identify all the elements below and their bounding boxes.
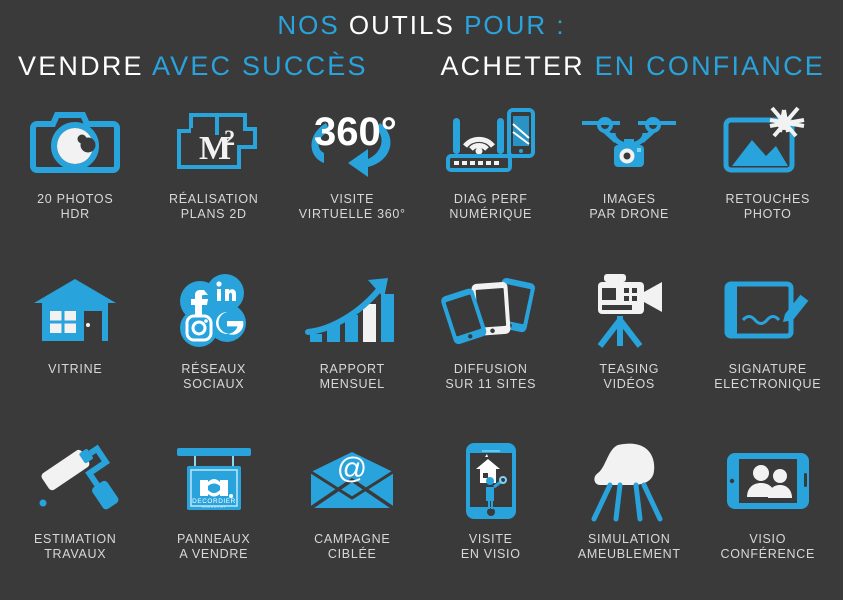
- caption-line-2: VIDÉOS: [599, 377, 659, 392]
- subtitle-left-vendre: VENDRE: [18, 51, 152, 81]
- 360-arrows-icon: 360°: [297, 98, 407, 184]
- grid-item-rapport-mensuel[interactable]: RAPPORT MENSUEL: [283, 268, 422, 438]
- caption-line-2: CIBLÉE: [314, 547, 390, 562]
- headline-part-pour: POUR :: [464, 10, 566, 40]
- grid-item-visio-conference[interactable]: VISIO CONFÉRENCE: [699, 438, 838, 600]
- caption-line-2: HDR: [37, 207, 113, 222]
- grid-item-panneaux-a-vendre[interactable]: DECORDIER immobilier PANNEAUX A VENDRE: [145, 438, 284, 600]
- subtitle-right: ACHETER EN CONFIANCE: [440, 53, 825, 80]
- caption: PANNEAUX A VENDRE: [177, 532, 250, 562]
- social-networks-icon: [159, 268, 269, 354]
- grid-item-reseaux-sociaux[interactable]: RÉSEAUX SOCIAUX: [145, 268, 284, 438]
- floorplan-m2-icon: M 2: [159, 98, 269, 184]
- grid-item-diag-perf[interactable]: DIAG PERF NUMÉRIQUE: [422, 98, 561, 268]
- caption-line-1: RETOUCHES: [725, 192, 810, 207]
- caption-line-1: PANNEAUX: [177, 532, 250, 547]
- subtitle-left: VENDRE AVEC SUCCÈS: [18, 53, 368, 80]
- caption-line-1: RAPPORT: [320, 362, 385, 377]
- page-title: NOS OUTILS POUR :: [0, 12, 843, 38]
- caption: RÉSEAUX SOCIAUX: [181, 362, 246, 392]
- caption-line-1: SIGNATURE: [714, 362, 821, 377]
- caption: SIMULATION AMEUBLEMENT: [578, 532, 681, 562]
- tablet-people-icon: [713, 438, 823, 524]
- poster-root: NOS OUTILS POUR : VENDRE AVEC SUCCÈS ACH…: [0, 0, 843, 600]
- caption: RAPPORT MENSUEL: [320, 362, 385, 392]
- caption-line-2: PLANS 2D: [169, 207, 258, 222]
- caption: RETOUCHES PHOTO: [725, 192, 810, 222]
- caption-line-1: TEASING: [599, 362, 659, 377]
- caption-line-1: VISITE: [299, 192, 406, 207]
- grid-item-images-drone[interactable]: IMAGES PAR DRONE: [560, 98, 699, 268]
- caption-line-1: DIFFUSION: [445, 362, 536, 377]
- caption: SIGNATURE ELECTRONIQUE: [714, 362, 821, 392]
- caption-line-2: ELECTRONIQUE: [714, 377, 821, 392]
- caption-line-2: AMEUBLEMENT: [578, 547, 681, 562]
- caption-line-2: SUR 11 SITES: [445, 377, 536, 392]
- grid-item-plans-2d[interactable]: M 2 RÉALISATION PLANS 2D: [145, 98, 284, 268]
- growth-chart-icon: [297, 268, 407, 354]
- grid-item-diffusion-sites[interactable]: DIFFUSION SUR 11 SITES: [422, 268, 561, 438]
- grid-item-vitrine[interactable]: VITRINE: [6, 268, 145, 438]
- badge-360-text: 360°: [314, 110, 397, 154]
- caption-line-1: RÉALISATION: [169, 192, 258, 207]
- caption-line-1: IMAGES: [589, 192, 669, 207]
- grid-item-estimation-travaux[interactable]: ESTIMATION TRAVAUX: [6, 438, 145, 600]
- caption-line-2: A VENDRE: [177, 547, 250, 562]
- caption-line-2: PAR DRONE: [589, 207, 669, 222]
- caption-line-2: SOCIAUX: [181, 377, 246, 392]
- caption: VISITE EN VISIO: [461, 532, 521, 562]
- grid-item-simulation-ameublement[interactable]: SIMULATION AMEUBLEMENT: [560, 438, 699, 600]
- caption-line-2: CONFÉRENCE: [720, 547, 815, 562]
- caption: VISIO CONFÉRENCE: [720, 532, 815, 562]
- caption-line-1: VITRINE: [48, 362, 102, 377]
- m2-exponent: 2: [224, 125, 235, 150]
- caption: VISITE VIRTUELLE 360°: [299, 192, 406, 222]
- subtitle-left-avec-succes: AVEC SUCCÈS: [152, 51, 368, 81]
- router-wifi-phone-icon: [436, 98, 546, 184]
- grid-item-visite-en-visio[interactable]: VISITE EN VISIO: [422, 438, 561, 600]
- caption: CAMPAGNE CIBLÉE: [314, 532, 390, 562]
- caption-line-1: VISIO: [720, 532, 815, 547]
- paint-roller-icon: [20, 438, 130, 524]
- photo-retouch-icon: [713, 98, 823, 184]
- caption: IMAGES PAR DRONE: [589, 192, 669, 222]
- video-camera-icon: [574, 268, 684, 354]
- phone-visit-icon: [436, 438, 546, 524]
- caption: 20 PHOTOS HDR: [37, 192, 113, 222]
- caption-line-2: NUMÉRIQUE: [449, 207, 532, 222]
- for-sale-sign-icon: DECORDIER immobilier: [159, 438, 269, 524]
- caption-line-1: ESTIMATION: [34, 532, 116, 547]
- at-symbol: @: [337, 452, 367, 485]
- grid-item-photos-hdr[interactable]: 20 PHOTOS HDR: [6, 98, 145, 268]
- caption-line-1: CAMPAGNE: [314, 532, 390, 547]
- grid-item-visite-360[interactable]: 360° VISITE VIRTUELLE 360°: [283, 98, 422, 268]
- grid-item-signature-electronique[interactable]: SIGNATURE ELECTRONIQUE: [699, 268, 838, 438]
- subtitle-row: VENDRE AVEC SUCCÈS ACHETER EN CONFIANCE: [0, 53, 843, 80]
- headline-part-outils: OUTILS: [349, 10, 464, 40]
- caption-line-1: SIMULATION: [578, 532, 681, 547]
- caption-line-2: EN VISIO: [461, 547, 521, 562]
- grid-item-teasing-videos[interactable]: TEASING VIDÉOS: [560, 268, 699, 438]
- drone-icon: [574, 98, 684, 184]
- signature-tablet-icon: [713, 268, 823, 354]
- caption-line-1: RÉSEAUX: [181, 362, 246, 377]
- caption-line-1: VISITE: [461, 532, 521, 547]
- caption-line-1: DIAG PERF: [449, 192, 532, 207]
- grid-item-campagne-ciblee[interactable]: @ CAMPAGNE CIBLÉE: [283, 438, 422, 600]
- chair-icon: [574, 438, 684, 524]
- tablets-icon: [436, 268, 546, 354]
- caption: RÉALISATION PLANS 2D: [169, 192, 258, 222]
- caption-line-2: PHOTO: [725, 207, 810, 222]
- caption: TEASING VIDÉOS: [599, 362, 659, 392]
- sign-brand-name: DECORDIER: [192, 498, 236, 505]
- caption-line-1: 20 PHOTOS: [37, 192, 113, 207]
- email-at-icon: @: [297, 438, 407, 524]
- house-shop-icon: [20, 268, 130, 354]
- caption-line-2: TRAVAUX: [34, 547, 116, 562]
- caption: DIFFUSION SUR 11 SITES: [445, 362, 536, 392]
- grid-item-retouches-photo[interactable]: RETOUCHES PHOTO: [699, 98, 838, 268]
- caption: DIAG PERF NUMÉRIQUE: [449, 192, 532, 222]
- camera-icon: [20, 98, 130, 184]
- tools-grid: 20 PHOTOS HDR M 2 RÉALISATION PLANS 2D: [0, 98, 843, 600]
- caption-line-2: VIRTUELLE 360°: [299, 207, 406, 222]
- header: NOS OUTILS POUR : VENDRE AVEC SUCCÈS ACH…: [0, 0, 843, 80]
- subtitle-right-acheter: ACHETER: [440, 51, 594, 81]
- headline-part-nos: NOS: [277, 10, 349, 40]
- caption: ESTIMATION TRAVAUX: [34, 532, 116, 562]
- caption: VITRINE: [48, 362, 102, 377]
- caption-line-2: MENSUEL: [320, 377, 385, 392]
- subtitle-right-en-confiance: EN CONFIANCE: [595, 51, 825, 81]
- sign-brand-tagline: immobilier: [202, 505, 226, 509]
